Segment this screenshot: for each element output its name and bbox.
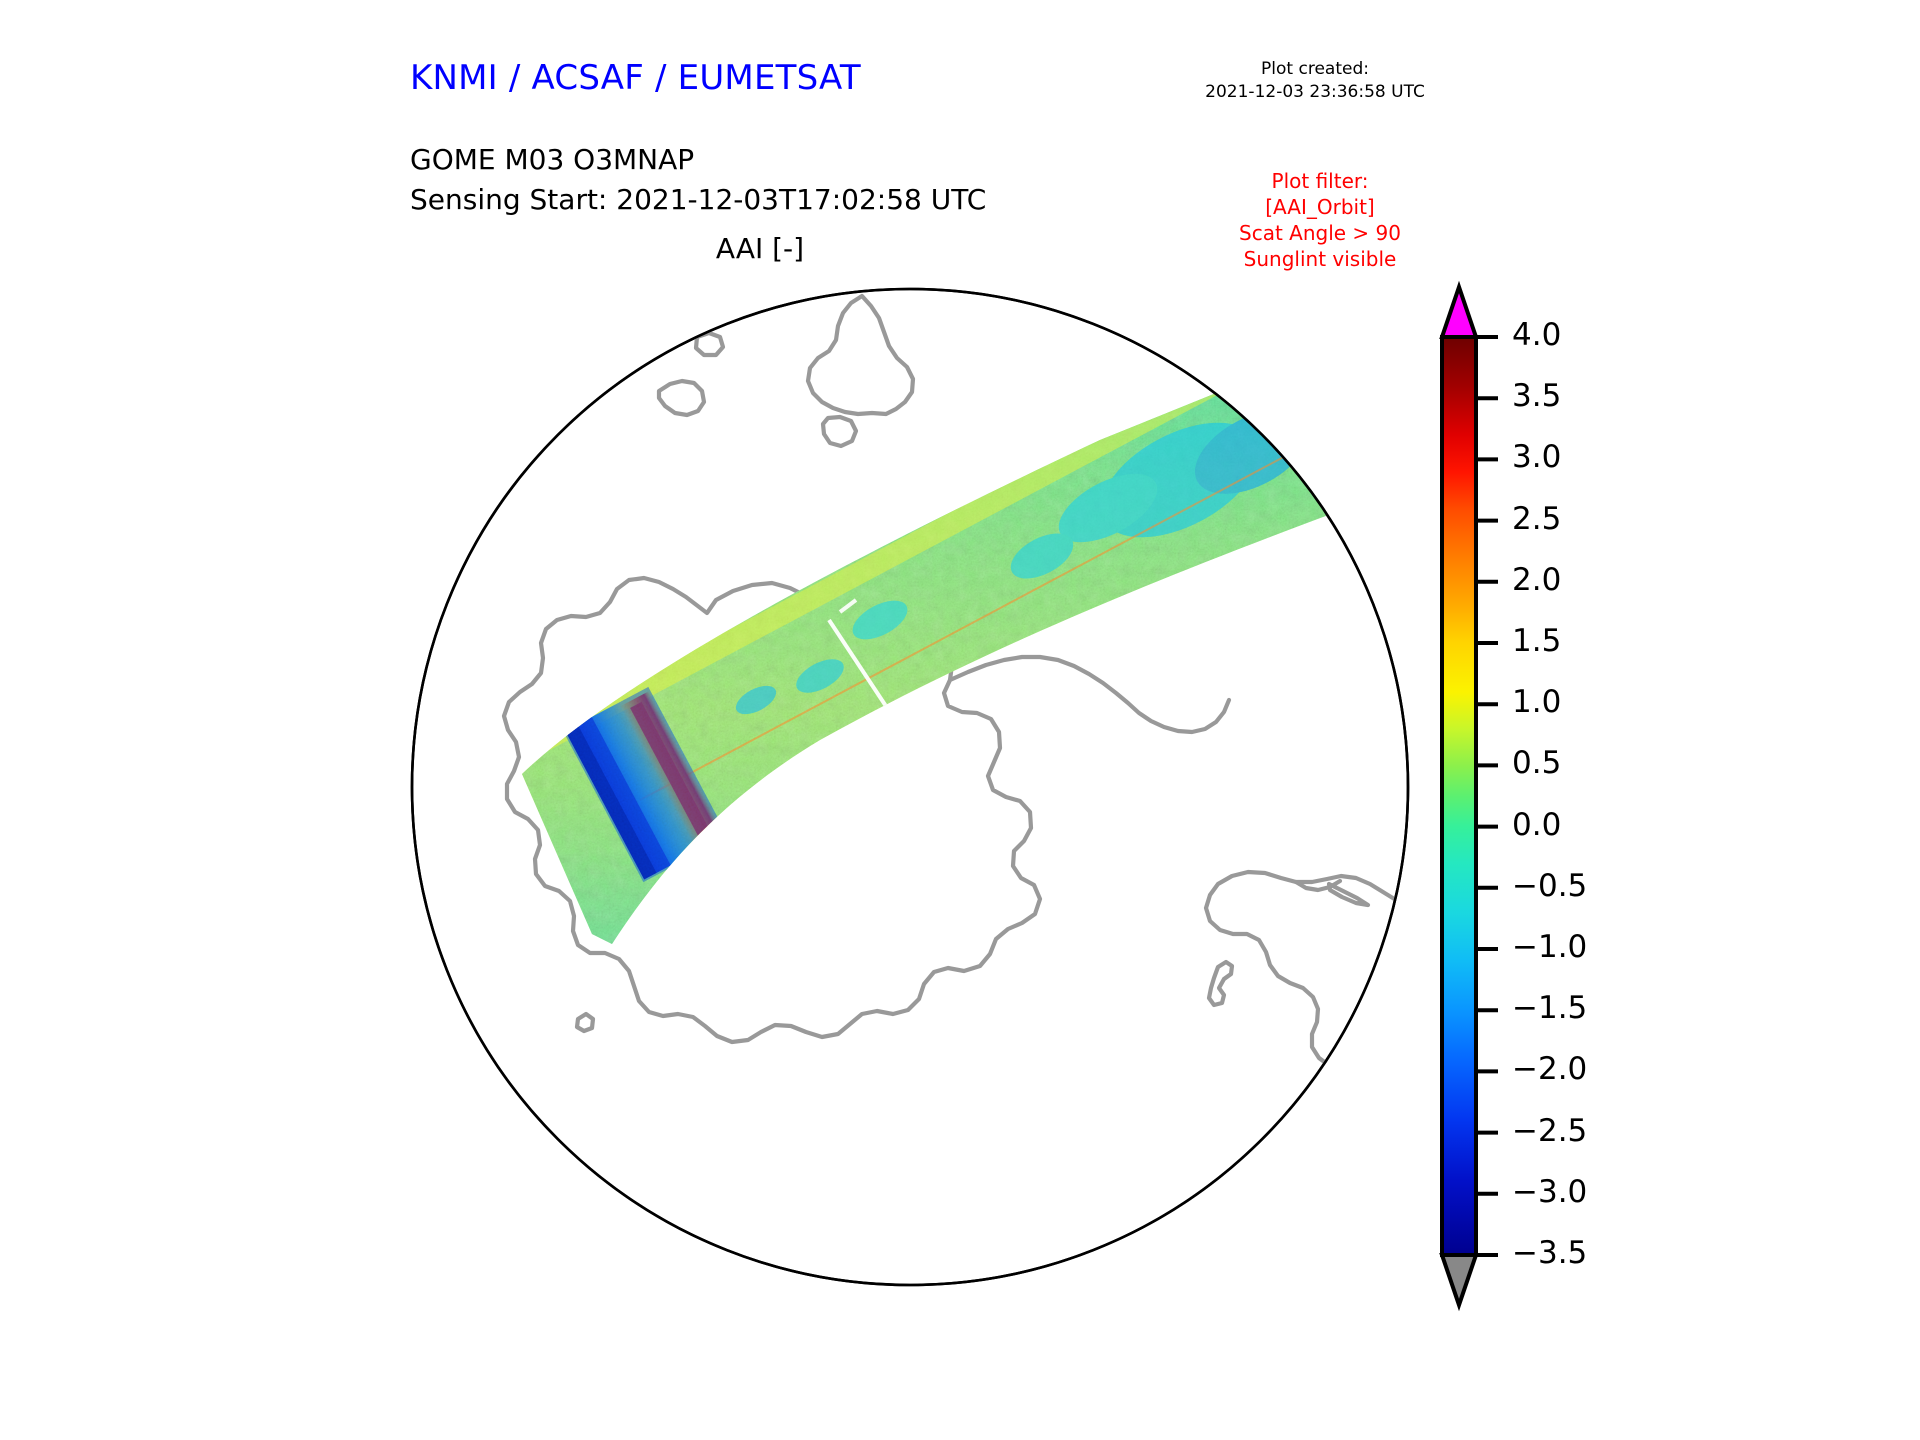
colorbar-gradient-bar bbox=[1442, 337, 1476, 1255]
colorbar-tick-label: 1.0 bbox=[1512, 687, 1561, 718]
colorbar-under-arrow bbox=[1442, 1255, 1476, 1305]
plot-page: KNMI / ACSAF / EUMETSAT Plot created: 20… bbox=[0, 0, 1920, 1440]
colorbar-tick-label: 1.5 bbox=[1512, 626, 1561, 657]
colorbar-tick-label: −0.5 bbox=[1512, 871, 1587, 902]
colorbar-tick-label: −1.0 bbox=[1512, 932, 1587, 963]
colorbar-tick-label: −2.0 bbox=[1512, 1054, 1587, 1085]
colorbar-tick-label: −1.5 bbox=[1512, 993, 1587, 1024]
colorbar-tick-label: 4.0 bbox=[1512, 320, 1561, 351]
colorbar-tick-label: 0.0 bbox=[1512, 810, 1561, 841]
colorbar-tick-label: 2.0 bbox=[1512, 565, 1561, 596]
colorbar-tick-label: 3.0 bbox=[1512, 442, 1561, 473]
colorbar-over-arrow bbox=[1442, 287, 1476, 337]
colorbar-tick-label: 2.5 bbox=[1512, 504, 1561, 535]
colorbar-tick-label: −2.5 bbox=[1512, 1116, 1587, 1147]
colorbar-tick-label: −3.5 bbox=[1512, 1238, 1587, 1269]
colorbar-ticks bbox=[1476, 337, 1498, 1255]
colorbar-tick-label: 0.5 bbox=[1512, 748, 1561, 779]
colorbar-tick-label: 3.5 bbox=[1512, 381, 1561, 412]
colorbar-tick-label: −3.0 bbox=[1512, 1177, 1587, 1208]
colorbar: 4.03.53.02.52.01.51.00.50.0−0.5−1.0−1.5−… bbox=[1430, 275, 1690, 1320]
